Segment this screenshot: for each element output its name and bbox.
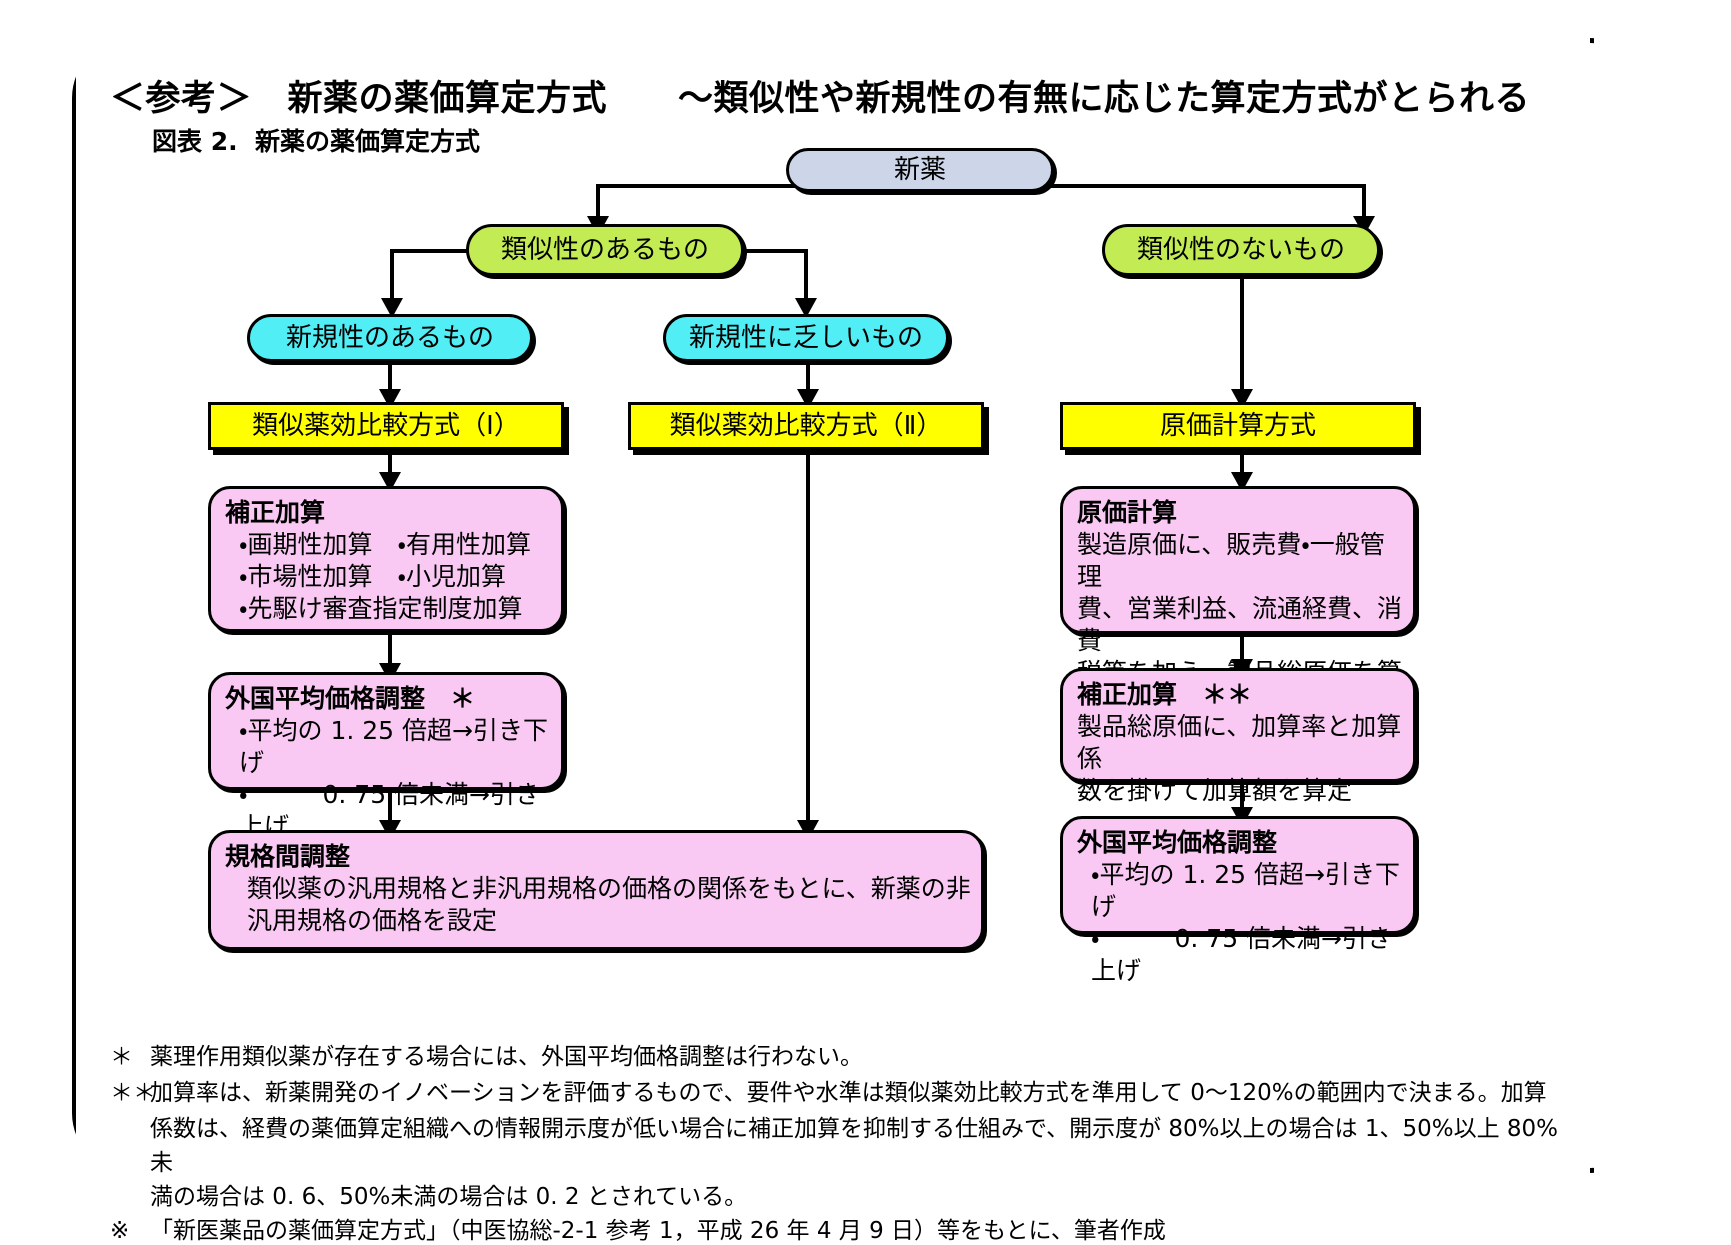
footnote-3-mark: ※ bbox=[110, 1214, 150, 1245]
page-title: ＜参考＞ 新薬の薬価算定方式 〜類似性や新規性の有無に応じた算定方式がとられる bbox=[110, 70, 1530, 121]
box-premium-right-line-2: 数を掛けて加算額を算定 bbox=[1077, 775, 1403, 807]
connector-similar-left bbox=[390, 249, 472, 253]
box-premium[interactable]: 補正加算 ・画期性加算 ・有用性加算 ・市場性加算 ・小児加算 ・先駆け審査指定… bbox=[208, 486, 564, 632]
node-similar-label: 類似性のあるもの bbox=[501, 234, 709, 267]
box-premium-right-line-1: 製品総原価に、加算率と加算係 bbox=[1077, 711, 1403, 775]
box-premium-right[interactable]: 補正加算 ＊＊ 製品総原価に、加算率と加算係 数を掛けて加算額を算定 bbox=[1060, 668, 1416, 782]
box-premium-line-3: ・先駆け審査指定制度加算 bbox=[225, 593, 551, 625]
footnote-2-mark: ＊＊ bbox=[110, 1076, 150, 1110]
figure-subtitle: 図表 2. 新薬の薬価算定方式 bbox=[152, 122, 480, 158]
left-bracket-mask bbox=[76, 34, 132, 1177]
footnote-1-text: 薬理作用類似薬が存在する場合には、外国平均価格調整は行わない。 bbox=[150, 1040, 1570, 1074]
node-novel-poor[interactable]: 新規性に乏しいもの bbox=[663, 314, 949, 362]
box-foreign-price-left-line-1: ・平均の 1. 25 倍超→引き下げ bbox=[225, 715, 551, 779]
node-novel-yes[interactable]: 新規性のあるもの bbox=[247, 314, 533, 362]
node-method-2-label: 類似薬効比較方式（Ⅱ） bbox=[670, 410, 943, 443]
figure-canvas: ＜参考＞ 新薬の薬価算定方式 〜類似性や新規性の有無に応じた算定方式がとられる … bbox=[0, 0, 1731, 1245]
footnote-2-text: 加算率は、新薬開発のイノベーションを評価するもので、要件や水準は類似薬効比較方式… bbox=[150, 1076, 1570, 1110]
box-premium-title: 補正加算 bbox=[225, 497, 551, 529]
box-foreign-price-right-line-1: ・平均の 1. 25 倍超→引き下げ bbox=[1077, 859, 1403, 923]
node-new-drug-label: 新薬 bbox=[894, 154, 946, 187]
footnote-2: ＊＊ 加算率は、新薬開発のイノベーションを評価するもので、要件や水準は類似薬効比… bbox=[110, 1076, 1570, 1110]
node-not-similar-label: 類似性のないもの bbox=[1137, 234, 1345, 267]
box-foreign-price-left-title: 外国平均価格調整 ＊ bbox=[225, 683, 551, 715]
box-spec-adjust-line-2: 汎用規格の価格を設定 bbox=[225, 905, 971, 937]
box-foreign-price-right-title: 外国平均価格調整 bbox=[1077, 827, 1403, 859]
footnote-1: ＊ 薬理作用類似薬が存在する場合には、外国平均価格調整は行わない。 bbox=[110, 1040, 1570, 1074]
box-spec-adjust-line-1: 類似薬の汎用規格と非汎用規格の価格の関係をもとに、新薬の非 bbox=[225, 873, 971, 905]
node-cost-method[interactable]: 原価計算方式 bbox=[1060, 402, 1416, 450]
connector-similar-right bbox=[736, 249, 808, 253]
box-spec-adjust[interactable]: 規格間調整 類似薬の汎用規格と非汎用規格の価格の関係をもとに、新薬の非 汎用規格… bbox=[208, 830, 984, 950]
node-similar[interactable]: 類似性のあるもの bbox=[466, 224, 744, 276]
box-premium-line-1: ・画期性加算 ・有用性加算 bbox=[225, 529, 551, 561]
footnote-1-mark: ＊ bbox=[110, 1040, 150, 1074]
connector-method2-down bbox=[806, 450, 810, 828]
node-method-1[interactable]: 類似薬効比較方式（Ⅰ） bbox=[208, 402, 564, 450]
box-cost-calc-line-2: 費、営業利益、流通経費、消費 bbox=[1077, 593, 1403, 657]
footnote-3-text: 「新医薬品の薬価算定方式」（中医協総-2-1 参考 1，平成 26 年 4 月 … bbox=[150, 1214, 1570, 1245]
box-foreign-price-right[interactable]: 外国平均価格調整 ・平均の 1. 25 倍超→引き下げ ・ 0. 75 倍未満→… bbox=[1060, 816, 1416, 934]
node-not-similar[interactable]: 類似性のないもの bbox=[1102, 224, 1380, 276]
connector-notsimilar-down bbox=[1240, 277, 1244, 398]
box-cost-calc-line-1: 製造原価に、販売費・一般管理 bbox=[1077, 529, 1403, 593]
box-premium-right-title: 補正加算 ＊＊ bbox=[1077, 679, 1403, 711]
footnote-3: ※ 「新医薬品の薬価算定方式」（中医協総-2-1 参考 1，平成 26 年 4 … bbox=[110, 1214, 1570, 1245]
footnote-2-cont-2: 満の場合は 0. 6、50%未満の場合は 0. 2 とされている。 bbox=[110, 1180, 1570, 1214]
footnote-2-cont-1: 係数は、経費の薬価算定組織への情報開示度が低い場合に補正加算を抑制する仕組みで、… bbox=[110, 1112, 1570, 1180]
box-cost-calc-title: 原価計算 bbox=[1077, 497, 1403, 529]
node-cost-method-label: 原価計算方式 bbox=[1160, 410, 1316, 443]
box-spec-adjust-title: 規格間調整 bbox=[225, 841, 971, 873]
node-method-1-label: 類似薬効比較方式（Ⅰ） bbox=[252, 410, 520, 443]
right-bracket-mask bbox=[1594, 34, 1650, 1177]
box-foreign-price-right-line-2: ・ 0. 75 倍未満→引き上げ bbox=[1077, 923, 1403, 987]
box-cost-calc[interactable]: 原価計算 製造原価に、販売費・一般管理 費、営業利益、流通経費、消費 税等を加え… bbox=[1060, 486, 1416, 634]
node-method-2[interactable]: 類似薬効比較方式（Ⅱ） bbox=[628, 402, 984, 450]
node-new-drug[interactable]: 新薬 bbox=[786, 148, 1054, 192]
node-novel-yes-label: 新規性のあるもの bbox=[286, 322, 494, 355]
box-foreign-price-left[interactable]: 外国平均価格調整 ＊ ・平均の 1. 25 倍超→引き下げ ・ 0. 75 倍未… bbox=[208, 672, 564, 790]
node-novel-poor-label: 新規性に乏しいもの bbox=[689, 322, 923, 355]
box-premium-line-2: ・市場性加算 ・小児加算 bbox=[225, 561, 551, 593]
footnotes: ＊ 薬理作用類似薬が存在する場合には、外国平均価格調整は行わない。 ＊＊ 加算率… bbox=[110, 1040, 1570, 1245]
